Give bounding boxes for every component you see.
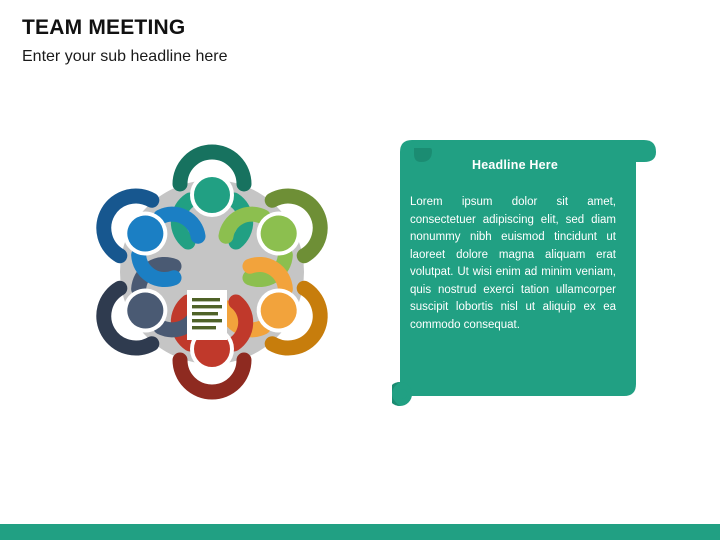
slide-header: TEAM MEETING Enter your sub headline her… xyxy=(22,14,522,69)
page-subtitle: Enter your sub headline here xyxy=(22,45,522,69)
panel-text-block: Headline Here Lorem ipsum dolor sit amet… xyxy=(392,132,640,334)
panel-body-text: Lorem ipsum dolor sit amet, consectetuer… xyxy=(410,194,620,334)
panel-bottom-left-roll-inner xyxy=(397,389,407,399)
footer-accent-bar xyxy=(0,524,720,540)
document-icon xyxy=(187,290,227,340)
content-panel: Headline Here Lorem ipsum dolor sit amet… xyxy=(392,132,664,410)
slide-canvas: TEAM MEETING Enter your sub headline her… xyxy=(0,0,720,540)
page-title: TEAM MEETING xyxy=(22,14,522,42)
team-meeting-diagram xyxy=(62,122,362,422)
panel-headline: Headline Here xyxy=(410,158,620,172)
